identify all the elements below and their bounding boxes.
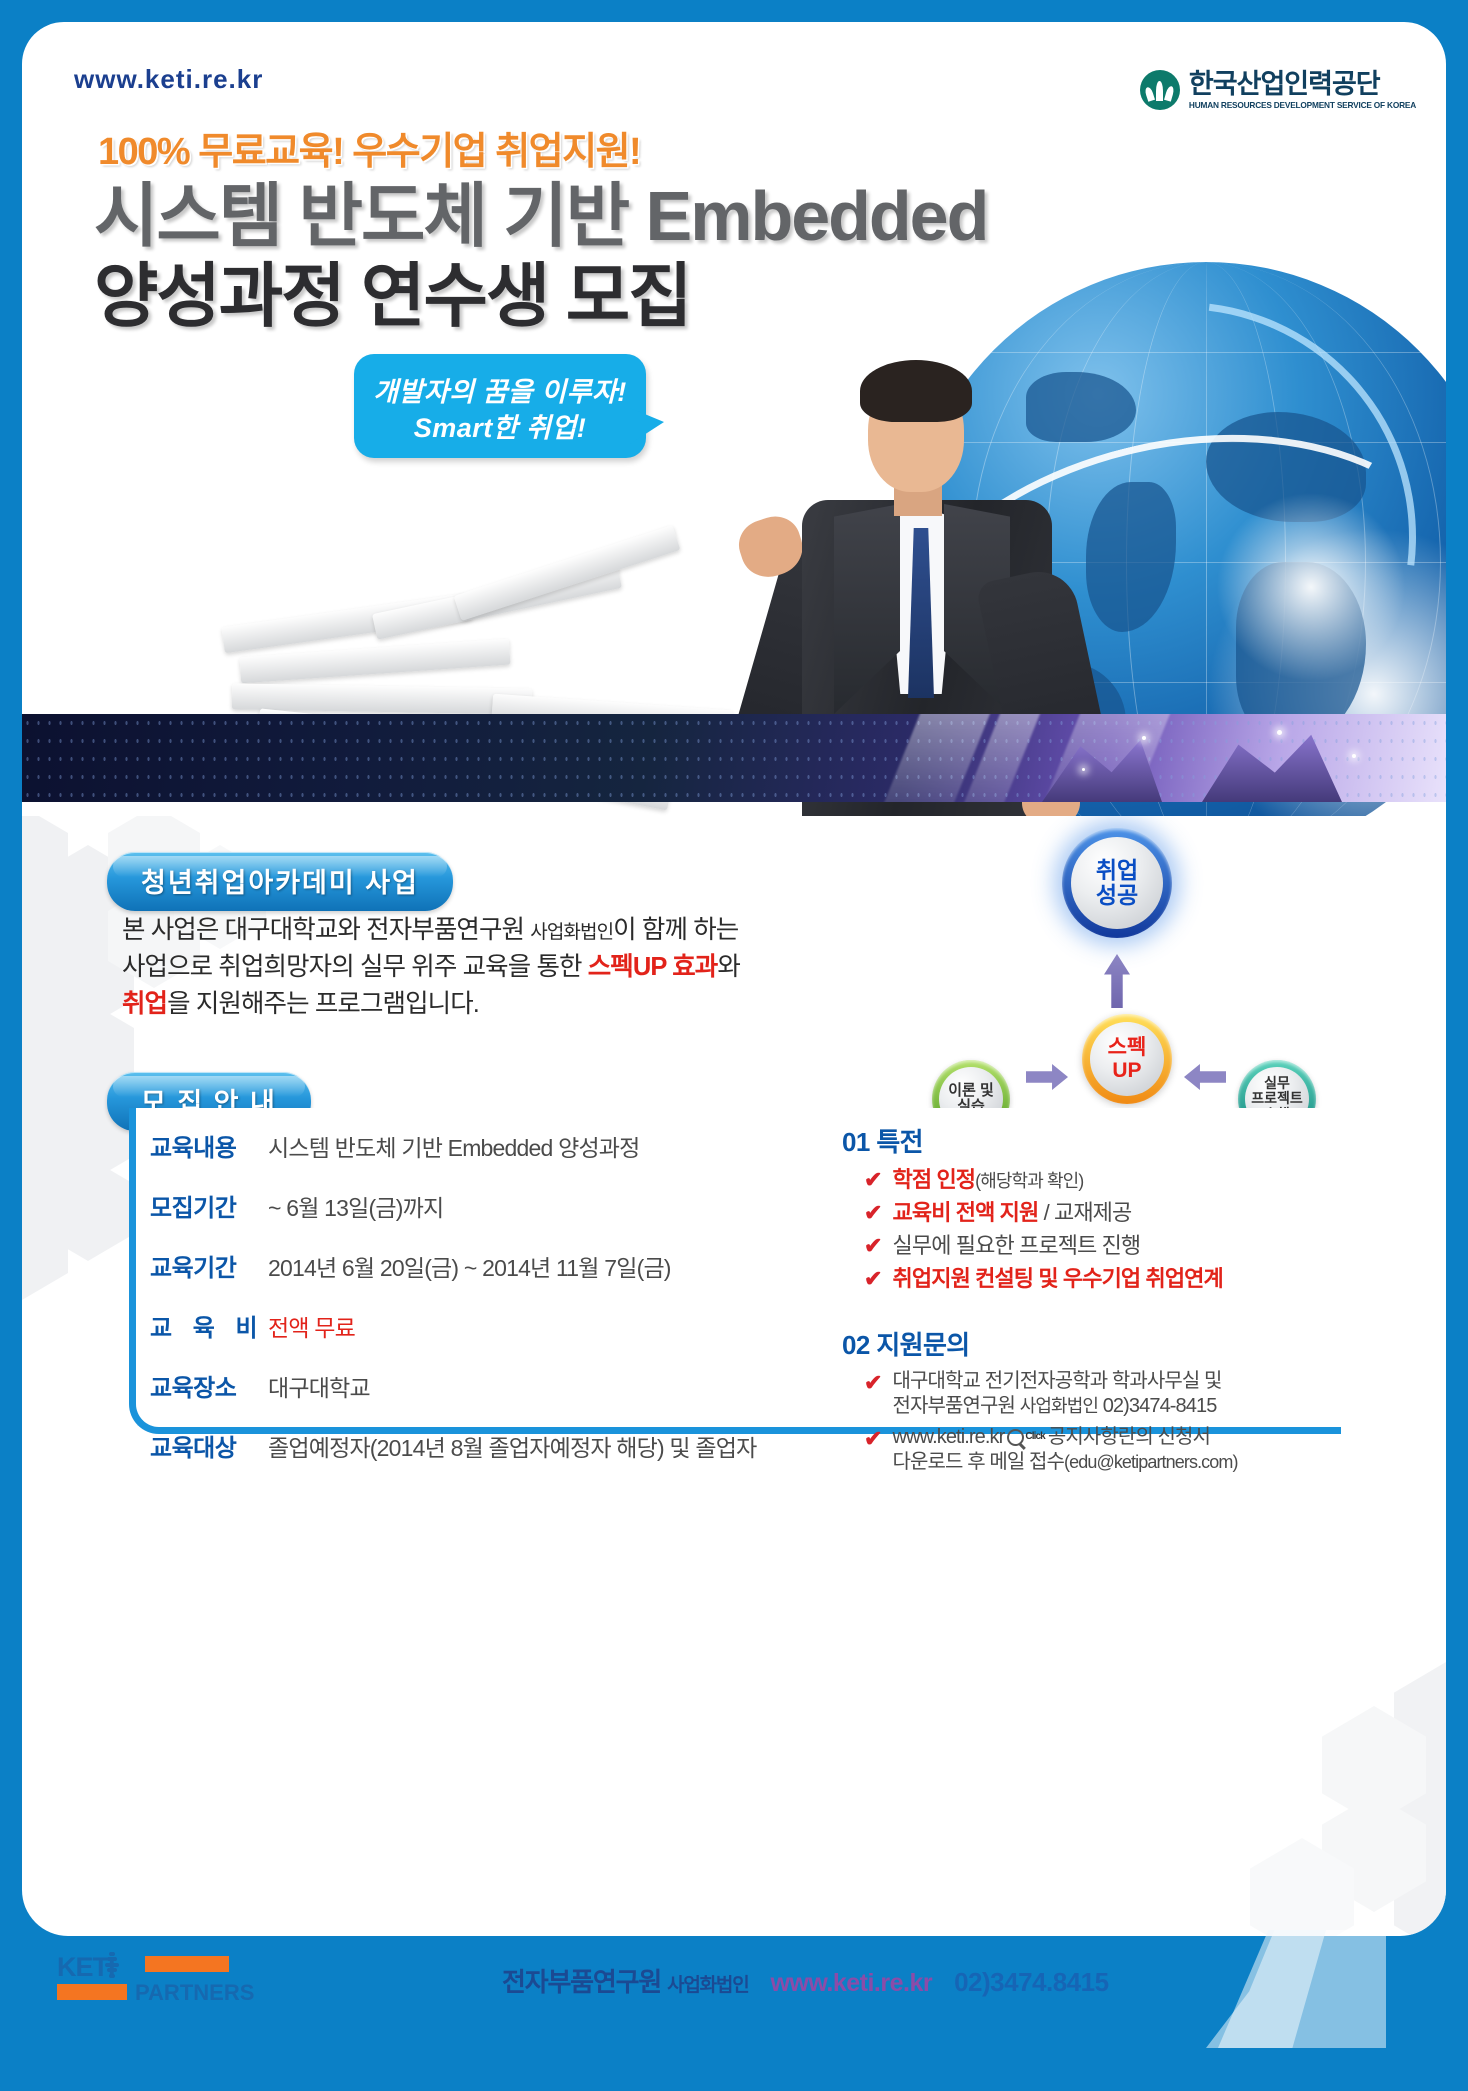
desc-part-4: 을 지원해주는 프로그램입니다. <box>167 990 479 1018</box>
table-row: 교육장소 대구대학교 <box>150 1368 790 1403</box>
orb-success-line-2: 성공 <box>1096 883 1138 908</box>
speech-bubble: 개발자의 꿈을 이루자! Smart한 취업! <box>354 354 646 458</box>
list-item: ✔ 교육비 전액 지원 / 교재제공 <box>864 1199 1362 1227</box>
arrow-left-icon <box>1184 1064 1226 1090</box>
orb-employment-success: 취업 성공 <box>1062 828 1172 938</box>
benefit-plain-text: (해당학과 확인) <box>975 1171 1083 1191</box>
benefit-plain-text: / 교재제공 <box>1038 1200 1131 1225</box>
speech-bubble-line-2: Smart한 취업! <box>354 406 646 445</box>
check-icon: ✔ <box>864 1265 882 1293</box>
youth-academy-description: 본 사업은 대구대학교와 전자부품연구원 사업화법인이 함께 하는 사업으로 취… <box>122 912 762 1023</box>
benefits-heading: 01 특전 <box>842 1122 1362 1159</box>
orb-success-line-1: 취업 <box>1096 858 1138 883</box>
speech-bubble-line-1: 개발자의 꿈을 이루자! <box>354 370 646 409</box>
check-icon: ✔ <box>864 1166 882 1194</box>
section-label-youth-academy: 청년취업아카데미 사업 <box>107 852 453 911</box>
benefit-red-text: 취업지원 컨설팅 및 우수기업 취업연계 <box>893 1265 1223 1293</box>
row-key: 모집기간 <box>150 1188 268 1223</box>
check-icon: ✔ <box>864 1369 882 1420</box>
footer-org-main: 전자부품연구원 <box>502 1967 667 1997</box>
list-item: ✔ 실무에 필요한 프로젝트 진행 <box>864 1232 1362 1260</box>
row-value: 2014년 6월 20일(금) ~ 2014년 11월 7일(금) <box>268 1249 671 1283</box>
check-icon: ✔ <box>864 1232 882 1260</box>
table-row: 교육기간 2014년 6월 20일(금) ~ 2014년 11월 7일(금) <box>150 1248 790 1283</box>
decorative-banner-strip <box>22 714 1446 802</box>
benefit-red-text: 학점 인정 <box>893 1167 976 1192</box>
contact-phone: 02)3474-8415 <box>1098 1395 1216 1417</box>
recruitment-details-table: 교육내용 시스템 반도체 기반 Embedded 양성과정 모집기간 ~ 6월 … <box>150 1128 790 1488</box>
table-row: 교육내용 시스템 반도체 기반 Embedded 양성과정 <box>150 1128 790 1163</box>
keti-partners-logo: KETI PARTNERS <box>57 1950 257 2012</box>
row-key: 교육기간 <box>150 1248 268 1283</box>
row-value: 전액 무료 <box>268 1309 355 1343</box>
click-label: Click <box>1025 1431 1044 1444</box>
desc-highlight-spec-up: 스펙UP 효과 <box>588 953 718 981</box>
contact-line-1: 대구대학교 전기전자공학과 학과사무실 및 <box>893 1370 1222 1392</box>
desc-part-1: 본 사업은 대구대학교와 전자부품연구원 <box>122 916 530 944</box>
benefit-plain-text: 실무에 필요한 프로젝트 진행 <box>893 1232 1141 1260</box>
hrdkorea-name-english: HUMAN RESOURCES DEVELOPMENT SERVICE OF K… <box>1189 101 1416 109</box>
orb-spec-line-2: UP <box>1108 1059 1147 1082</box>
contact-line-2a: 전자부품연구원 <box>893 1395 1020 1417</box>
hexagon-pattern-right <box>1146 1556 1446 1936</box>
poster-root: www.keti.re.kr 한국산업인력공단 HUMAN RESOURCES … <box>0 0 1468 2091</box>
row-value: 시스템 반도체 기반 Embedded 양성과정 <box>268 1129 640 1163</box>
apply-website-url[interactable]: www.keti.re.kr <box>893 1426 1005 1448</box>
table-row: 교육대상 졸업예정자(2014년 8월 졸업자예정자 해당) 및 졸업자 <box>150 1428 790 1463</box>
spec-up-flow-diagram: 취업 성공 스펙 UP 이론 및 실습 <box>922 828 1322 1148</box>
arrow-up-icon <box>1104 954 1130 1008</box>
orb-right-line-1: 실무 <box>1251 1076 1303 1091</box>
table-row: 교 육 비 전액 무료 <box>150 1308 790 1343</box>
section-youth-academy: 청년취업아카데미 사업 <box>107 852 453 911</box>
partners-logo-text: PARTNERS <box>135 1980 254 2006</box>
footer-website-url[interactable]: www.keti.re.kr <box>770 1969 932 1998</box>
contact-heading: 02 지원문의 <box>842 1325 1362 1362</box>
list-item: ✔ www.keti.re.krClick공지사항란의 신청서 다운로드 후 메… <box>864 1425 1362 1476</box>
row-key: 교육내용 <box>150 1128 268 1163</box>
footer-phone-number: 02)3474.8415 <box>954 1967 1108 1998</box>
row-value: 졸업예정자(2014년 8월 졸업자예정자 해당) 및 졸업자 <box>268 1429 756 1463</box>
orb-spec-line-1: 스펙 <box>1108 1036 1147 1059</box>
footer: KETI PARTNERS 전자부품연구원 사업화법인 www.keti.re.… <box>22 1936 1446 2046</box>
orb-right-line-2: 프로젝트 <box>1251 1091 1303 1106</box>
check-icon: ✔ <box>864 1199 882 1227</box>
benefit-red-text: 교육비 전액 지원 <box>893 1200 1039 1225</box>
keti-logo-dots-icon <box>105 1950 119 1979</box>
orb-spec-up: 스펙 UP <box>1082 1014 1172 1104</box>
apply-email[interactable]: (edu@ketipartners.com) <box>1064 1452 1238 1472</box>
hair <box>860 360 972 422</box>
benefits-and-contact: 01 특전 ✔ 학점 인정(해당학과 확인) ✔ 교육비 전액 지원 / 교재제… <box>842 1122 1362 1481</box>
globe-light-glow <box>1216 492 1406 682</box>
magnifier-icon <box>1007 1429 1024 1446</box>
row-key: 교육대상 <box>150 1428 268 1463</box>
check-icon: ✔ <box>864 1425 882 1476</box>
hero-website-url[interactable]: www.keti.re.kr <box>74 64 263 95</box>
list-item: ✔ 취업지원 컨설팅 및 우수기업 취업연계 <box>864 1265 1362 1293</box>
apply-line-2: 다운로드 후 메일 접수 <box>893 1451 1064 1473</box>
desc-part-3: 와 <box>717 953 740 981</box>
table-row: 모집기간 ~ 6월 13일(금)까지 <box>150 1188 790 1223</box>
content-panel: 청년취업아카데미 사업 본 사업은 대구대학교와 전자부품연구원 사업화법인이 … <box>22 816 1446 1936</box>
list-item: ✔ 대구대학교 전기전자공학과 학과사무실 및 전자부품연구원 사업화법인 02… <box>864 1369 1362 1420</box>
footer-org-name: 전자부품연구원 사업화법인 <box>502 1962 748 1999</box>
apply-line-1-rest: 공지사항란의 신청서 <box>1048 1426 1210 1448</box>
desc-highlight-employment: 취업 <box>122 990 167 1018</box>
keti-logo-bar-1 <box>145 1956 229 1972</box>
desc-small-1: 사업화법인 <box>530 922 613 943</box>
list-item: ✔ 학점 인정(해당학과 확인) <box>864 1166 1362 1194</box>
footer-org-suffix: 사업화법인 <box>667 1975 748 1996</box>
contact-line-2b: 사업화법인 <box>1020 1396 1098 1416</box>
poster-title-line-2: 양성과정 연수생 모집 <box>94 240 691 341</box>
click-here-icon[interactable]: Click <box>1007 1429 1044 1446</box>
row-key: 교육장소 <box>150 1368 268 1403</box>
arrow-right-icon <box>1026 1064 1068 1090</box>
hrdkorea-emblem-icon <box>1140 70 1180 110</box>
hrdkorea-logo: 한국산업인력공단 HUMAN RESOURCES DEVELOPMENT SER… <box>1140 70 1416 110</box>
footer-contact-info: 전자부품연구원 사업화법인 www.keti.re.kr 02)3474.841… <box>502 1962 1109 1999</box>
orb-left-line-1: 이론 및 <box>948 1083 994 1100</box>
row-key: 교 육 비 <box>150 1308 268 1343</box>
row-value: ~ 6월 13일(금)까지 <box>268 1189 443 1223</box>
keti-logo-bar-2 <box>57 1984 127 2000</box>
row-value: 대구대학교 <box>268 1369 370 1403</box>
hrdkorea-name-korean: 한국산업인력공단 <box>1189 71 1416 98</box>
